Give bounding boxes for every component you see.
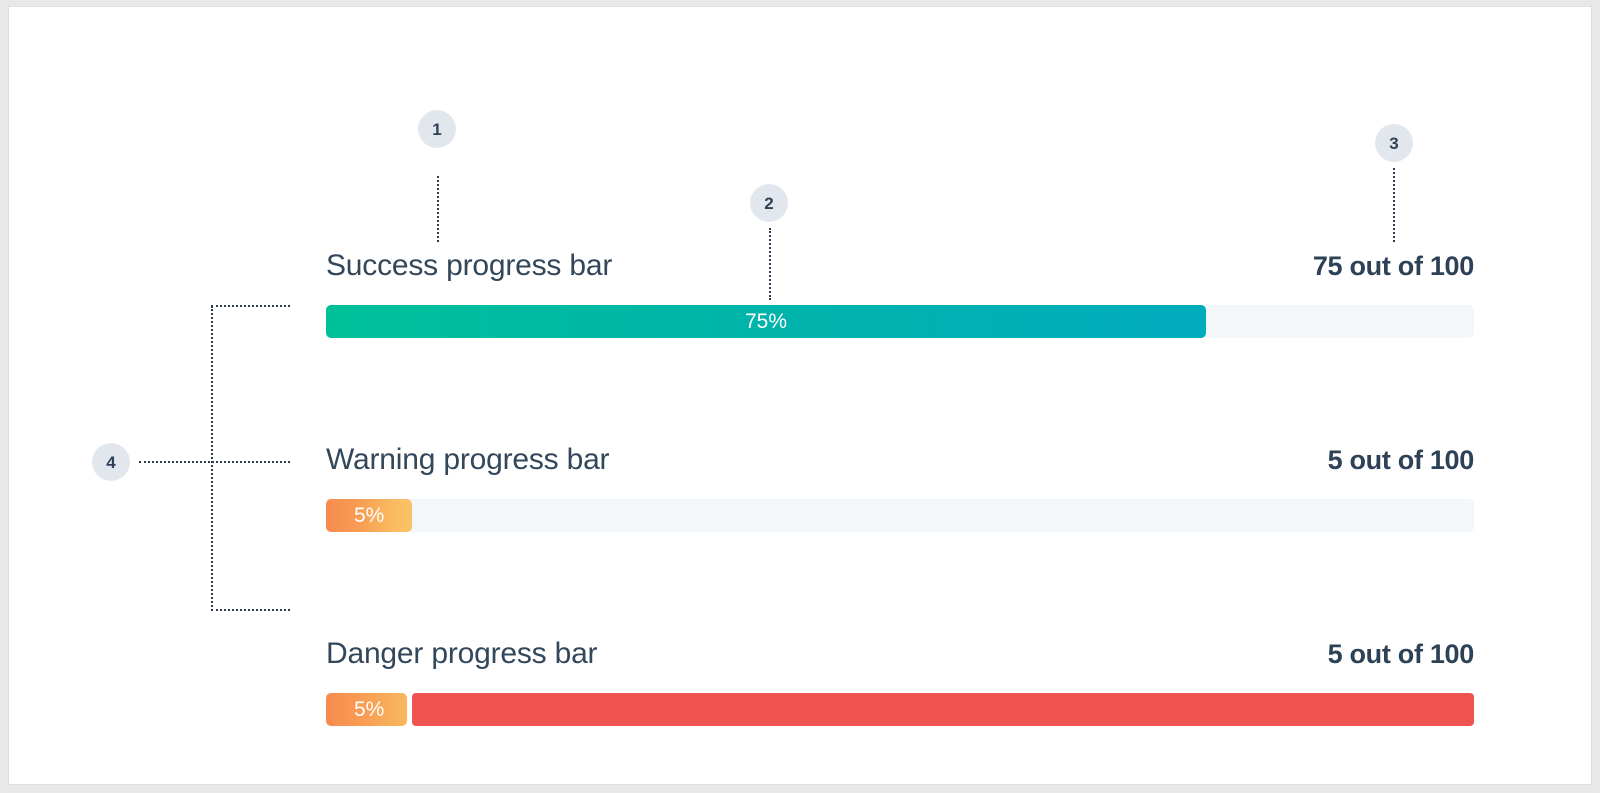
progress-header-danger: Danger progress bar 5 out of 100 xyxy=(326,631,1474,677)
progress-percent-danger: 5% xyxy=(326,699,384,720)
progress-bar-card: Success progress bar 75 out of 100 75% W… xyxy=(8,6,1592,785)
screenshot-root: Success progress bar 75 out of 100 75% W… xyxy=(0,0,1600,793)
progress-track-success[interactable]: 75% xyxy=(326,305,1474,338)
progress-row-warning: Warning progress bar 5 out of 100 5% xyxy=(326,437,1474,532)
spacer xyxy=(326,289,1474,305)
annotation-badge-3-number: 3 xyxy=(1389,135,1398,152)
progress-percent-warning: 5% xyxy=(326,505,384,526)
progress-value-warning: 5 out of 100 xyxy=(1328,447,1474,474)
progress-fill-danger: 5% xyxy=(326,693,407,726)
progress-row-danger: Danger progress bar 5 out of 100 5% xyxy=(326,631,1474,726)
annotation-badge-3[interactable]: 3 xyxy=(1375,124,1413,162)
progress-fill-success: 75% xyxy=(326,305,1206,338)
progress-header-warning: Warning progress bar 5 out of 100 xyxy=(326,437,1474,483)
progress-row-success: Success progress bar 75 out of 100 75% xyxy=(326,243,1474,338)
progress-value-danger: 5 out of 100 xyxy=(1328,641,1474,668)
annotation-connector-1 xyxy=(437,176,439,242)
progress-value-success: 75 out of 100 xyxy=(1313,253,1474,280)
annotation-connector-4-top xyxy=(211,305,290,307)
annotation-badge-2[interactable]: 2 xyxy=(750,184,788,222)
annotation-connector-4-spine xyxy=(211,306,213,611)
annotation-badge-4-number: 4 xyxy=(106,454,115,471)
spacer xyxy=(326,532,1474,631)
annotation-connector-4-bottom xyxy=(211,609,290,611)
progress-track-warning[interactable]: 5% xyxy=(326,499,1474,532)
spacer xyxy=(326,677,1474,693)
annotation-badge-1[interactable]: 1 xyxy=(418,110,456,148)
progress-remainder-danger xyxy=(412,693,1474,726)
annotation-badge-4[interactable]: 4 xyxy=(92,443,130,481)
annotation-connector-2 xyxy=(769,228,771,300)
progress-percent-success: 75% xyxy=(326,311,1206,332)
progress-label-warning: Warning progress bar xyxy=(326,445,609,475)
annotation-badge-1-number: 1 xyxy=(432,121,441,138)
spacer xyxy=(326,338,1474,437)
annotation-badge-2-number: 2 xyxy=(764,195,773,212)
progress-fill-warning: 5% xyxy=(326,499,412,532)
spacer xyxy=(326,483,1474,499)
progress-label-danger: Danger progress bar xyxy=(326,639,597,669)
progress-label-success: Success progress bar xyxy=(326,251,612,281)
progress-bar-list: Success progress bar 75 out of 100 75% W… xyxy=(326,243,1474,726)
progress-track-danger[interactable]: 5% xyxy=(326,693,1474,726)
progress-header-success: Success progress bar 75 out of 100 xyxy=(326,243,1474,289)
annotation-connector-4-lead xyxy=(139,461,290,463)
annotation-connector-3 xyxy=(1393,168,1395,242)
